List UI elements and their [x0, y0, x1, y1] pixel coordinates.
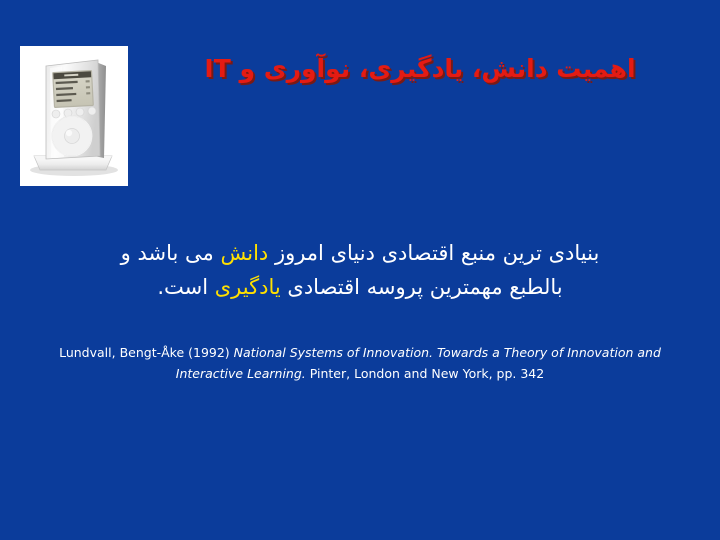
body-line-2-segment-1: بالطبع مهمترین پروسه اقتصادی: [281, 275, 563, 299]
citation-line-2: Interactive Learning. Pinter, London and…: [12, 363, 708, 384]
page-title: اهمیت دانش، یادگیری، نوآوری و IT: [140, 52, 700, 86]
citation-author-year: Lundvall, Bengt-Åke (1992): [59, 345, 234, 360]
body-paragraph: بنیادی ترین منبع اقتصادی دنیای امروز دان…: [22, 236, 698, 304]
citation-publisher: Pinter, London and New York, pp. 342: [306, 366, 544, 381]
ipod-in-dock-photo: [20, 46, 128, 186]
citation: Lundvall, Bengt-Åke (1992) National Syst…: [12, 342, 708, 384]
ipod-illustration: [20, 46, 128, 186]
citation-work-title-part-1: National Systems of Innovation. Towards …: [234, 345, 661, 360]
body-line-1-segment-1: بنیادی ترین منبع اقتصادی دنیای امروز: [268, 241, 599, 265]
body-line-1: بنیادی ترین منبع اقتصادی دنیای امروز دان…: [22, 236, 698, 270]
slide-canvas: اهمیت دانش، یادگیری، نوآوری و IT بنیادی …: [0, 0, 720, 540]
body-line-2: بالطبع مهمترین پروسه اقتصادی یادگیری است…: [22, 270, 698, 304]
highlight-word-learning: یادگیری: [215, 275, 281, 299]
citation-line-1: Lundvall, Bengt-Åke (1992) National Syst…: [12, 342, 708, 363]
citation-work-title-part-2: Interactive Learning.: [176, 366, 306, 381]
body-line-2-segment-3: است.: [157, 275, 214, 299]
highlight-word-knowledge: دانش: [220, 241, 268, 265]
body-line-1-segment-3: می باشد و: [121, 241, 221, 265]
